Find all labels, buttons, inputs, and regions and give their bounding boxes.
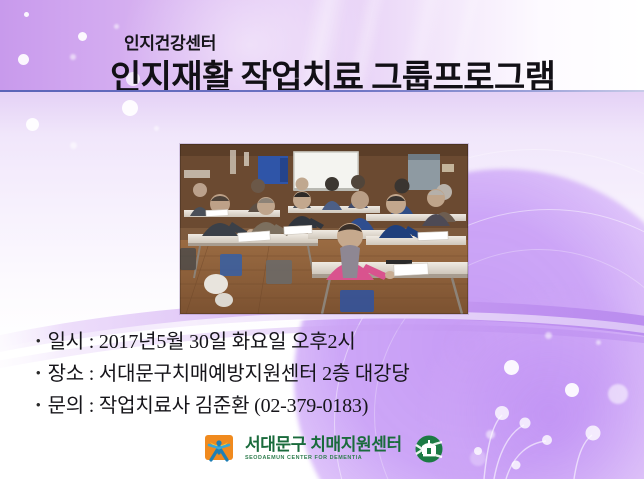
bokeh-dot [24, 12, 29, 17]
bokeh-dot [18, 54, 29, 65]
bullet-text-datetime: 일시 : 2017년5월 30일 화요일 오후2시 [48, 325, 356, 354]
seodaemun-symbol-icon [203, 434, 237, 464]
list-item: • 문의 : 작업치료사 김준환 (02-379-0183) [36, 389, 556, 418]
header-divider-rule [0, 90, 644, 92]
dementia-center-emblem-icon [414, 434, 444, 464]
list-item: • 일시 : 2017년5월 30일 화요일 오후2시 [36, 325, 556, 354]
bokeh-dot [70, 54, 76, 60]
organization-logo: 서대문구 치매지원센터 SEODAEMUN CENTER FOR DEMENTI… [203, 434, 444, 464]
bullet-text-location: 장소 : 서대문구치매예방지원센터 2층 대강당 [48, 357, 410, 386]
page-title: 인지재활 작업치료 그룹프로그램 [110, 50, 555, 92]
bullet-marker-icon: • [36, 366, 41, 379]
classroom-photo-illustration [180, 144, 468, 314]
list-item: • 장소 : 서대문구치매예방지원센터 2층 대강당 [36, 357, 556, 386]
logo-wordmark: 서대문구 치매지원센터 SEODAEMUN CENTER FOR DEMENTI… [245, 436, 402, 461]
bullet-marker-icon: • [36, 334, 41, 347]
program-photo [180, 144, 468, 314]
bokeh-dot [78, 32, 87, 41]
logo-name-english: SEODAEMUN CENTER FOR DEMENTIA [245, 456, 402, 461]
bullet-marker-icon: • [36, 398, 41, 411]
logo-name-korean: 서대문구 치매지원센터 [245, 436, 402, 453]
slide-header-band: 인지건강센터 인지재활 작업치료 그룹프로그램 [0, 0, 644, 92]
presentation-slide: 인지건강센터 인지재활 작업치료 그룹프로그램 [0, 0, 644, 479]
info-bullet-list: • 일시 : 2017년5월 30일 화요일 오후2시 • 장소 : 서대문구치… [36, 325, 556, 421]
bullet-text-contact: 문의 : 작업치료사 김준환 (02-379-0183) [48, 389, 369, 418]
